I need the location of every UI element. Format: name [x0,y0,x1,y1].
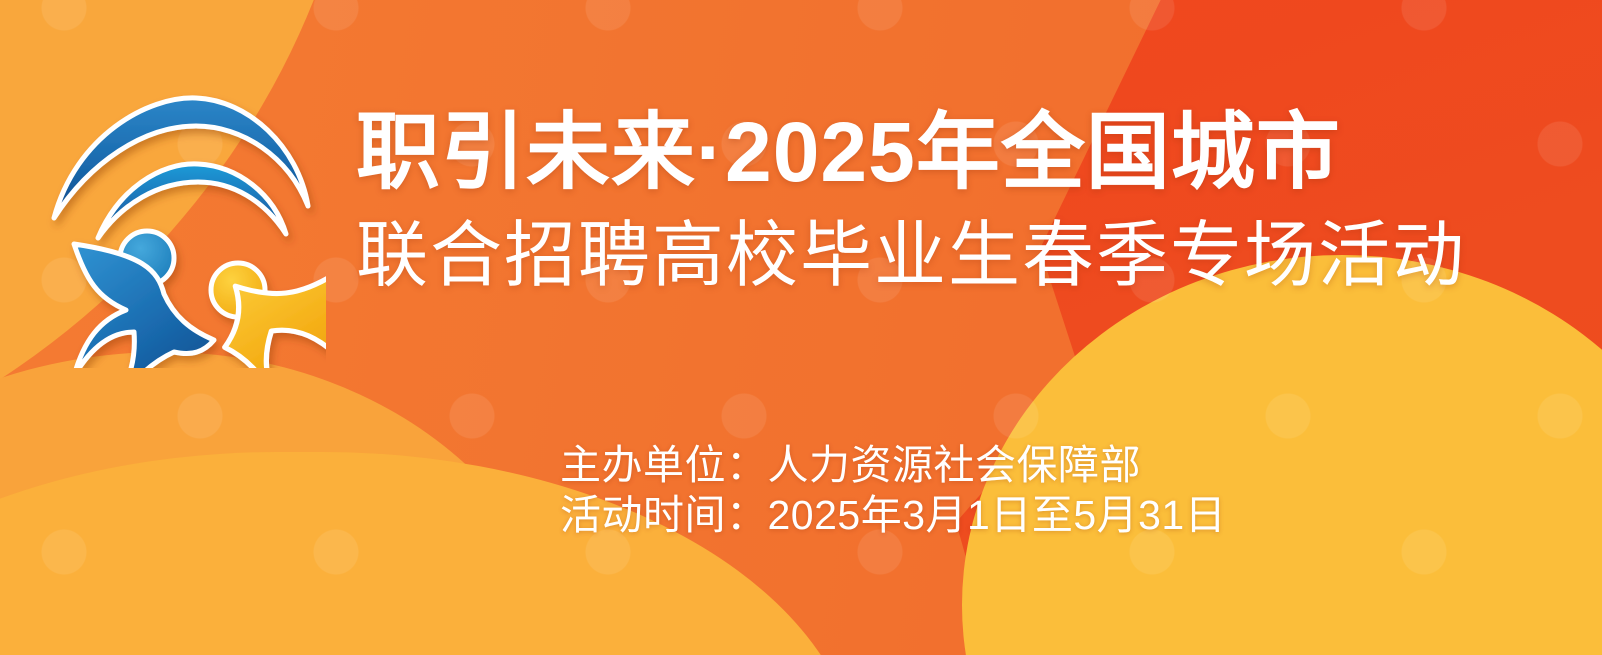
banner-title-line-1: 职引未来·2025年全国城市 [356,104,1536,200]
organizer-line: 主办单位：人力资源社会保障部 [560,440,1226,490]
banner-headline: 职引未来·2025年全国城市 联合招聘高校毕业生春季专场活动 [356,104,1536,298]
two-people-wifi-logo [36,78,326,368]
recruitment-banner: 职引未来·2025年全国城市 联合招聘高校毕业生春季专场活动 主办单位：人力资源… [0,0,1602,655]
banner-title-line-2: 联合招聘高校毕业生春季专场活动 [356,214,1536,298]
logo-shapes-group [54,98,326,368]
activity-time-line: 活动时间：2025年3月1日至5月31日 [560,490,1226,540]
banner-subinfo-block: 主办单位：人力资源社会保障部 活动时间：2025年3月1日至5月31日 [560,440,1226,540]
